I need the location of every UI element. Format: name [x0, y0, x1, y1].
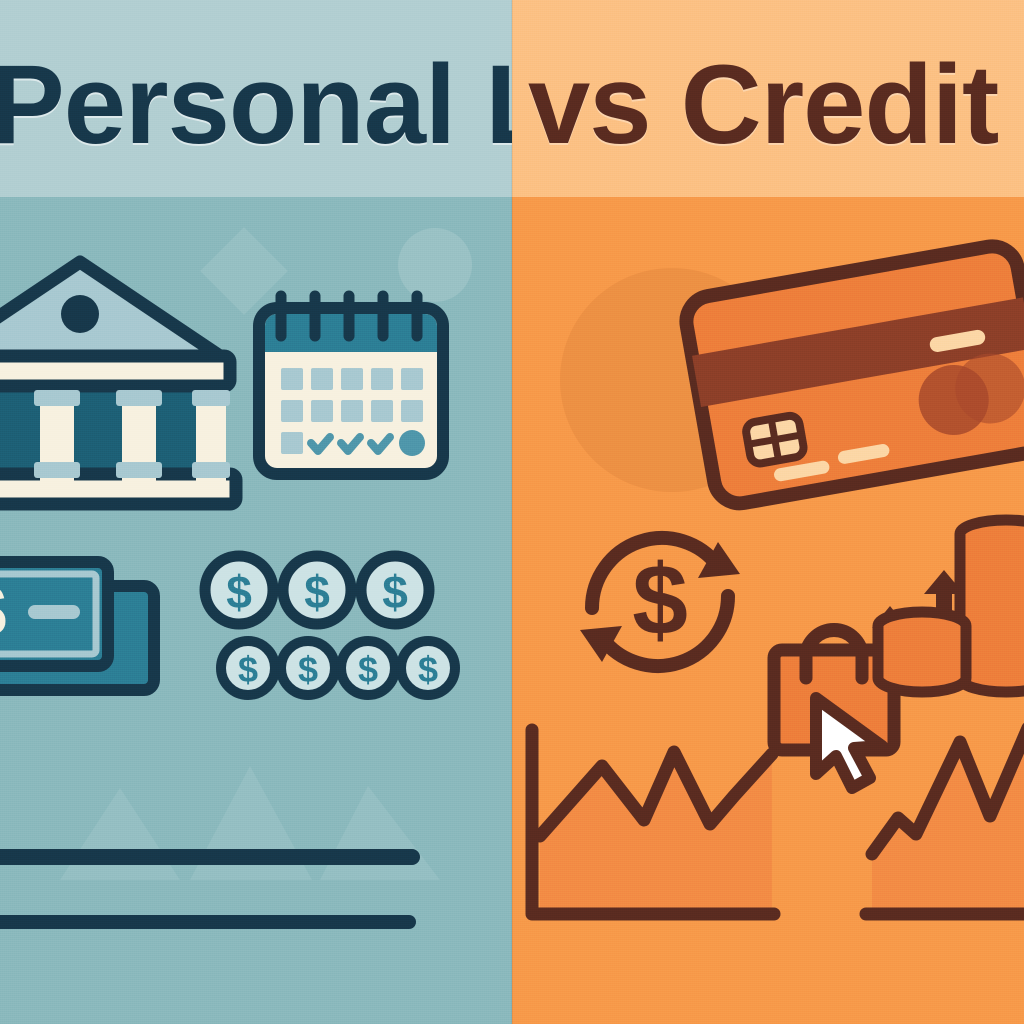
svg-text:$: $: [358, 649, 378, 690]
svg-text:$: $: [226, 566, 252, 618]
coins-icon: $ $ $ $ $ $ $: [198, 548, 460, 700]
credit-card-icon: [680, 240, 1024, 510]
page-title-right: vs Credit Card: [528, 49, 1024, 161]
line-chart-icon: [860, 724, 1024, 936]
bank-building-icon: [0, 238, 230, 528]
svg-text:$: $: [0, 569, 7, 652]
progress-bars-icon: [0, 845, 428, 945]
svg-text:$: $: [298, 649, 318, 690]
infographic-canvas: $ $ $ $ $: [0, 0, 1024, 1024]
svg-text:$: $: [632, 544, 688, 656]
banknote-icon: $: [0, 556, 172, 706]
title-band-left: Personal Loan: [0, 0, 512, 197]
coin-stacks-icon: [860, 498, 1024, 718]
svg-text:$: $: [304, 566, 330, 618]
line-chart-icon: [522, 724, 852, 936]
svg-text:$: $: [382, 566, 408, 618]
cycle-dollar-icon: $: [570, 512, 750, 692]
title-band-right: vs Credit Card: [512, 0, 1024, 197]
svg-text:$: $: [418, 649, 438, 690]
calendar-icon: [253, 290, 449, 480]
svg-text:$: $: [238, 649, 258, 690]
